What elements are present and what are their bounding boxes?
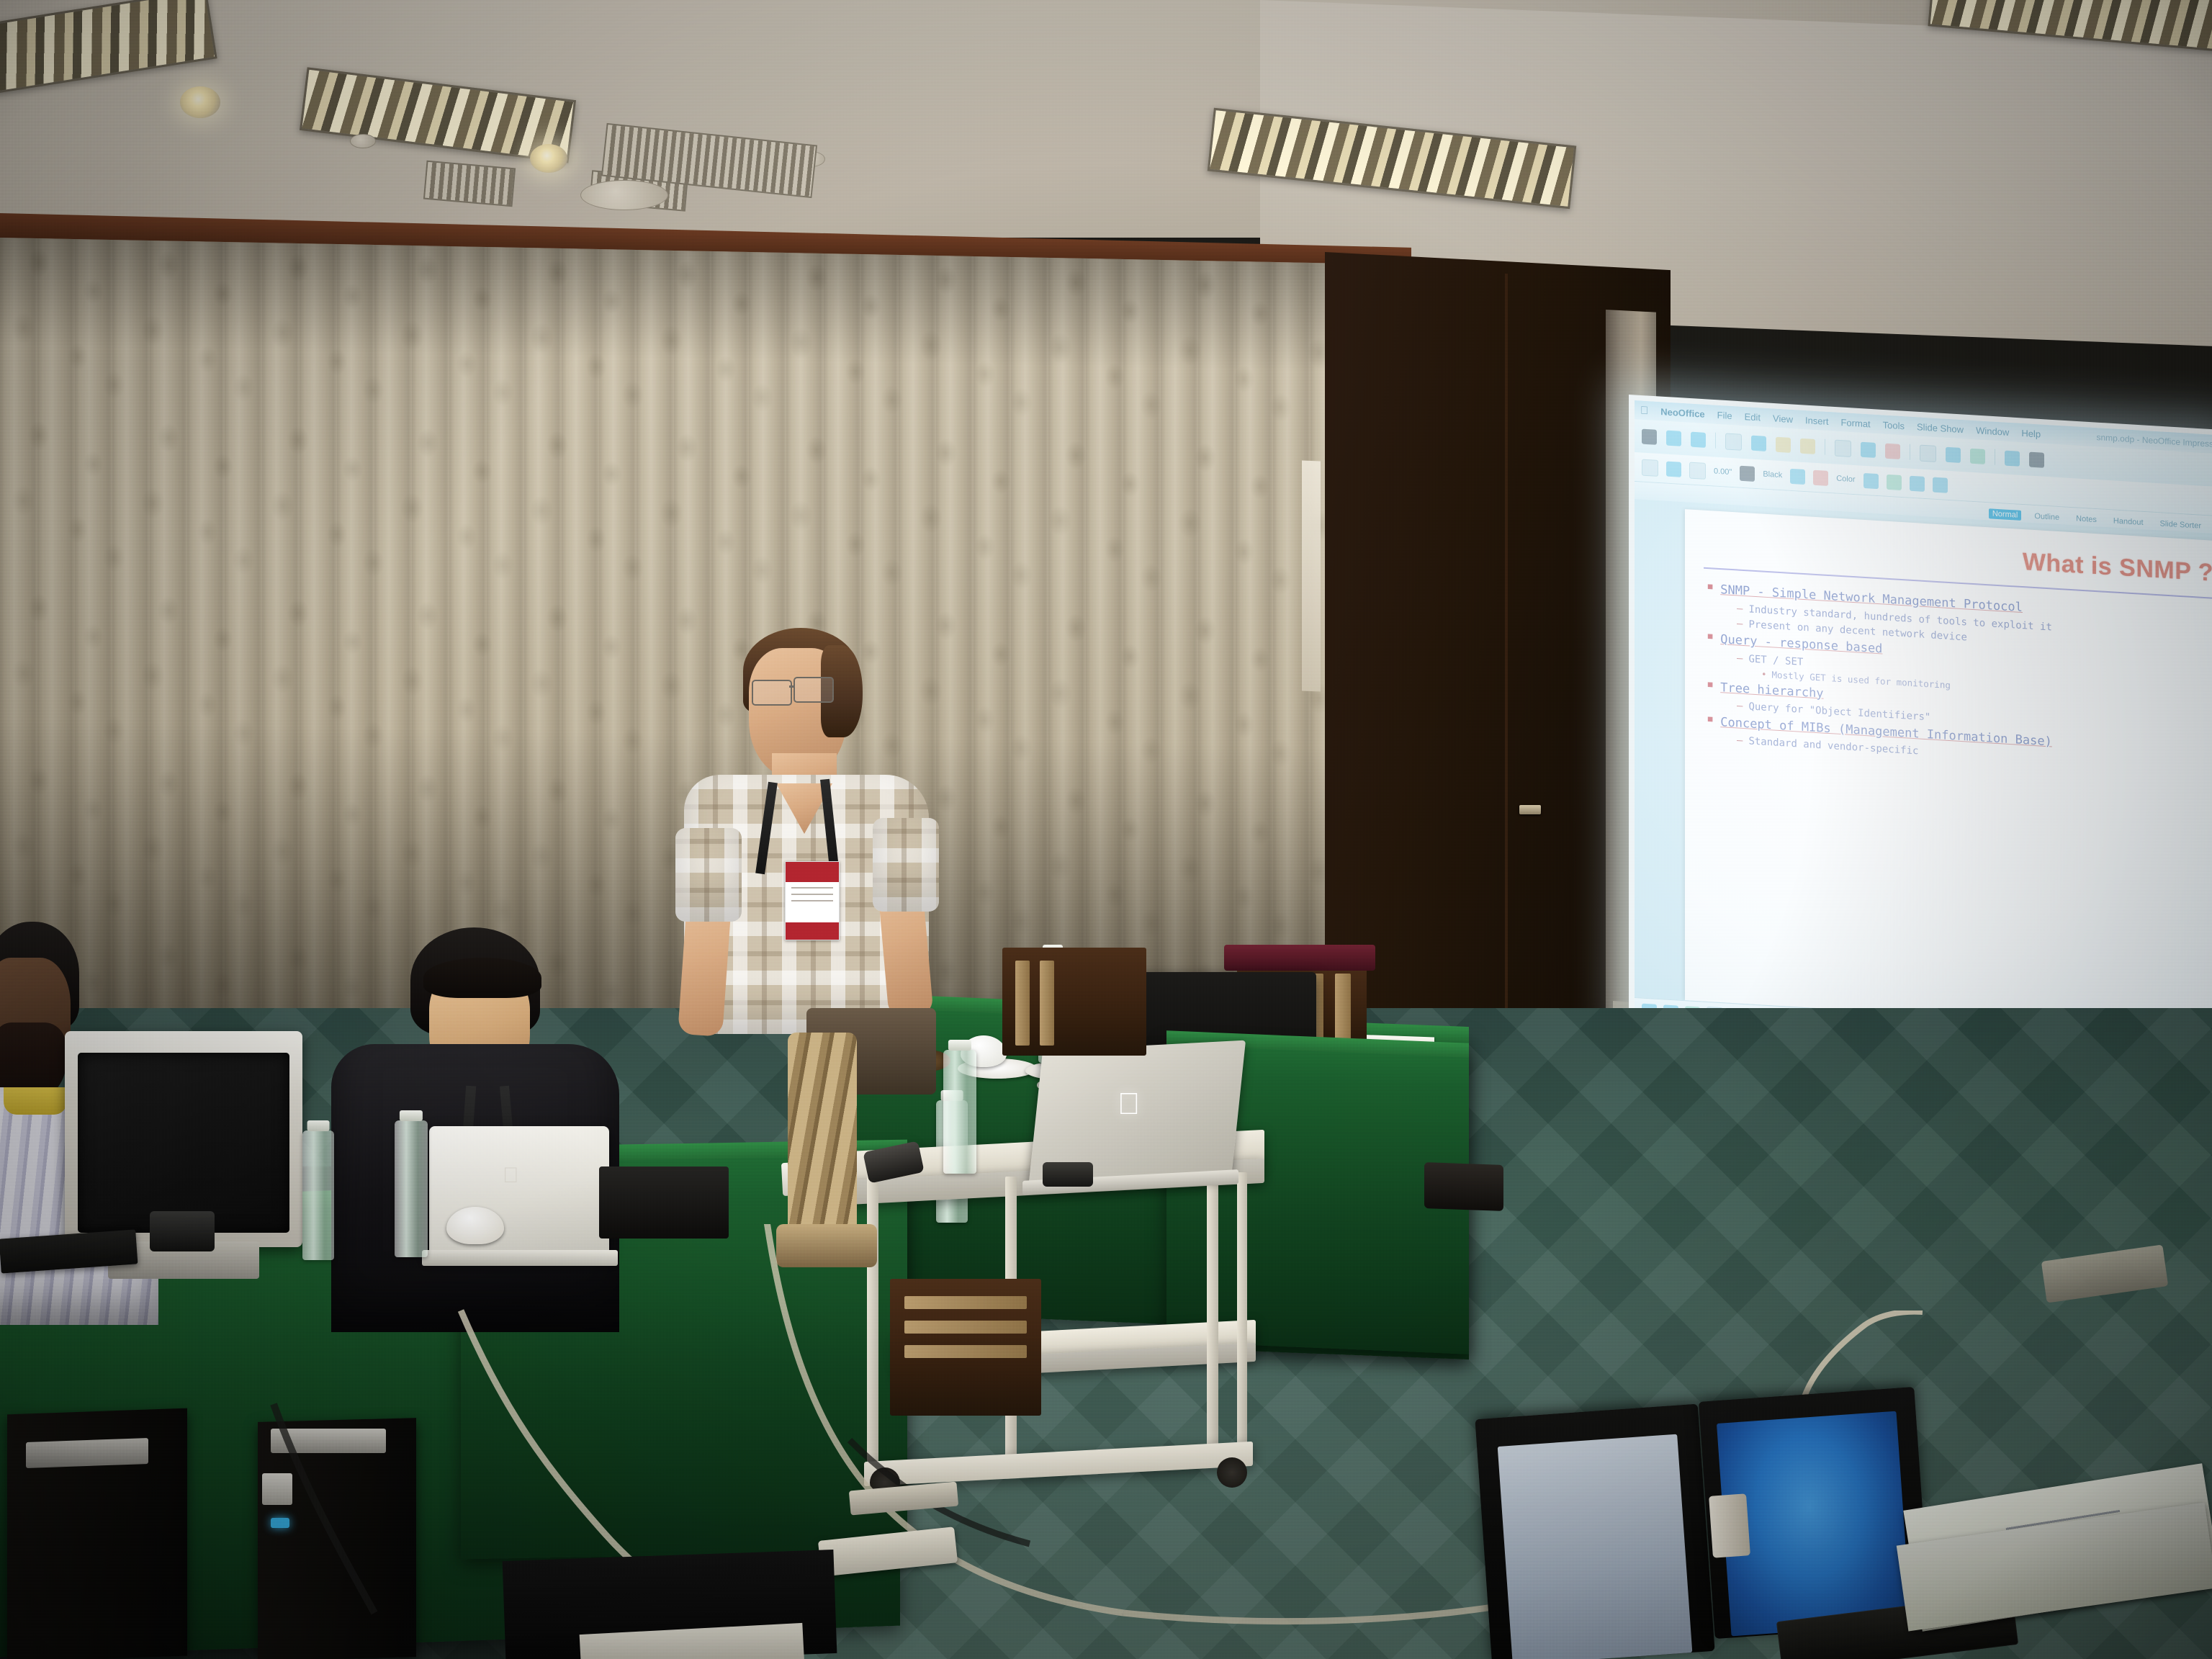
badge-header	[786, 862, 839, 882]
ceiling-speaker	[580, 180, 668, 210]
menu-item-format[interactable]: Format	[1840, 417, 1870, 429]
curtain-shading	[0, 238, 1354, 1041]
badge-text-line	[791, 894, 833, 895]
fill-style-icon[interactable]	[1790, 468, 1805, 484]
chair-slat	[1040, 961, 1054, 1046]
upholstered-chair-back	[788, 1033, 857, 1249]
presenter-sleeve-right	[873, 818, 939, 912]
menu-item-help[interactable]: Help	[2021, 427, 2041, 439]
attendee-center-hair-fringe	[423, 958, 541, 998]
open-icon[interactable]	[1666, 430, 1681, 446]
menu-item-file[interactable]: File	[1717, 409, 1732, 421]
presenter-sleeve-left	[675, 828, 742, 922]
copy-icon[interactable]	[1800, 438, 1815, 454]
select-arrow-icon[interactable]	[1642, 459, 1658, 476]
save-icon[interactable]	[1691, 431, 1706, 447]
menu-item-insert[interactable]: Insert	[1805, 415, 1829, 427]
line-icon[interactable]	[1666, 461, 1681, 477]
apple-menu-icon[interactable]: 	[1640, 404, 1648, 417]
print-icon[interactable]	[1725, 433, 1742, 450]
ceiling-downlight	[530, 144, 567, 173]
conference-room-photo:  NeoOffice File Edit View Insert Format…	[0, 0, 2212, 1659]
menu-item-edit[interactable]: Edit	[1745, 411, 1761, 423]
new-document-icon[interactable]	[1642, 428, 1657, 444]
shadow-icon[interactable]	[1863, 472, 1879, 488]
tab-outline[interactable]: Outline	[2031, 511, 2063, 523]
chair-slat	[1335, 974, 1351, 1046]
chart-icon[interactable]	[1920, 444, 1936, 462]
impress-application-window:  NeoOffice File Edit View Insert Format…	[1635, 400, 2212, 1057]
chair-cushion	[1224, 945, 1375, 971]
paste-icon[interactable]	[1835, 439, 1851, 457]
badge-footer	[786, 922, 839, 940]
power-adapter	[1043, 1162, 1093, 1187]
window-title: snmp.odp - NeoOffice Impress	[2096, 432, 2212, 449]
projector-box	[1424, 1162, 1503, 1211]
apple-logo-white-macbook: 	[503, 1165, 519, 1187]
fill-color-label[interactable]: Color	[1836, 475, 1855, 485]
presenter-conference-badge	[785, 861, 840, 940]
table-icon[interactable]	[1946, 446, 1961, 462]
apple-logo-macbook-pro[interactable]: 	[1118, 1089, 1141, 1119]
smoke-detector	[350, 134, 376, 148]
attendee-left-collar	[4, 1087, 67, 1115]
wall-light-gap	[1302, 461, 1321, 692]
badge-text-line	[791, 887, 833, 889]
water-bottle	[943, 1050, 976, 1174]
line-width-value[interactable]: 0.00"	[1714, 467, 1732, 477]
slide-work-area: What is SNMP ? ▪ SNMP - Simple Network M…	[1635, 499, 2212, 1032]
menu-item-view[interactable]: View	[1773, 413, 1793, 425]
undo-icon[interactable]	[1861, 441, 1876, 457]
redo-icon[interactable]	[1885, 443, 1900, 459]
cut-icon[interactable]	[1776, 436, 1791, 452]
menu-item-window[interactable]: Window	[1976, 425, 2009, 438]
eyeglasses-bridge	[789, 685, 795, 688]
tab-slide-sorter[interactable]: Slide Sorter	[2157, 518, 2205, 531]
door-handle	[1519, 805, 1541, 814]
fill-color-icon[interactable]	[1813, 469, 1828, 485]
badge-text-line	[791, 900, 833, 902]
zoom-icon[interactable]	[2005, 450, 2020, 466]
eyeglasses-right-lens	[793, 677, 834, 703]
bottle-cap	[400, 1110, 423, 1121]
menu-item-neooffice[interactable]: NeoOffice	[1660, 406, 1704, 420]
slide-canvas[interactable]: What is SNMP ? ▪ SNMP - Simple Network M…	[1685, 509, 2212, 1032]
line-color-label[interactable]: Black	[1763, 470, 1782, 480]
align-icon[interactable]	[1910, 475, 1925, 491]
tab-handout[interactable]: Handout	[2110, 516, 2147, 528]
bottle-cap	[307, 1120, 330, 1131]
line-color-swatch[interactable]	[1740, 465, 1755, 481]
arrange-icon[interactable]	[1933, 477, 1948, 493]
rectangle-icon[interactable]	[1689, 462, 1706, 479]
eyeglasses-left-lens	[752, 680, 792, 706]
foreground-mug	[1709, 1493, 1750, 1557]
help-icon[interactable]	[2029, 451, 2044, 467]
projection-screen:  NeoOffice File Edit View Insert Format…	[1635, 400, 2212, 1057]
foreground-monitor-screen	[1498, 1434, 1693, 1659]
ceiling-air-vent	[423, 161, 516, 207]
tab-notes[interactable]: Notes	[2072, 513, 2100, 525]
menu-item-slide-show[interactable]: Slide Show	[1917, 421, 1964, 435]
chair-slat	[1015, 961, 1030, 1046]
tab-normal[interactable]: Normal	[1989, 508, 2021, 521]
rotate-icon[interactable]	[1887, 474, 1902, 490]
menu-item-tools[interactable]: Tools	[1883, 419, 1905, 431]
ceiling-downlight	[180, 86, 220, 118]
bottle-cap	[948, 1040, 971, 1051]
image-icon[interactable]	[1970, 448, 1985, 464]
crt-screen-left	[78, 1053, 289, 1233]
slide-body: ▪ SNMP - Simple Network Management Proto…	[1685, 567, 2212, 778]
print-preview-icon[interactable]	[1751, 435, 1766, 451]
